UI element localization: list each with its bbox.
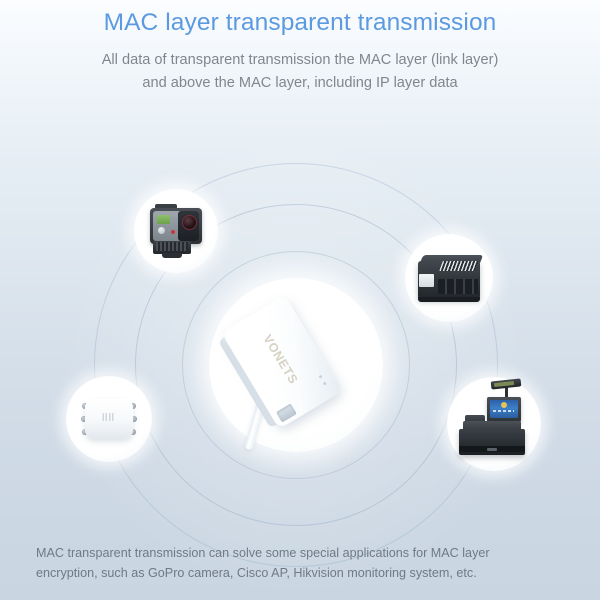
device-bubble-pos-terminal [447, 377, 541, 471]
header-block: MAC layer transparent transmission All d… [0, 0, 600, 96]
device-top-face: VONETS [221, 295, 342, 429]
caption-line-2: encryption, such as GoPro camera, Cisco … [36, 564, 564, 584]
vonets-device-body: VONETS [221, 295, 342, 429]
gopro-camera-icon [134, 189, 218, 273]
gopro-lcd-screen [157, 215, 170, 224]
ethernet-port-icon [276, 403, 297, 422]
cisco-access-point-icon [66, 376, 152, 462]
page-title: MAC layer transparent transmission [0, 0, 600, 39]
gopro-lens-icon [182, 215, 197, 230]
device-bubble-cisco-access-point [66, 376, 152, 462]
cisco-logo-icon [103, 413, 116, 421]
ap-body [85, 399, 133, 439]
plc-label-plate [419, 274, 434, 287]
pos-terminal-icon [447, 377, 541, 471]
plc-base [418, 297, 480, 302]
device-bubble-plc-module [405, 234, 493, 322]
infographic-canvas: MAC layer transparent transmission All d… [0, 0, 600, 600]
gopro-mount-teeth [156, 242, 188, 251]
subtitle-line-2: and above the MAC layer, including IP la… [0, 72, 600, 96]
status-led-icon-2 [323, 382, 327, 386]
plc-terminal-strip [439, 261, 479, 271]
subtitle-block: All data of transparent transmission the… [0, 39, 600, 96]
pos-cash-drawer-handle [487, 448, 497, 451]
pos-screen-logo-icon [501, 402, 507, 408]
status-led-icon-1 [319, 375, 323, 379]
gopro-record-indicator-icon [171, 230, 175, 234]
plc-module-slots [438, 279, 478, 294]
gopro-shutter-button-icon [158, 227, 165, 234]
caption-line-1: MAC transparent transmission can solve s… [36, 544, 564, 564]
pos-screen-text-lines [493, 410, 514, 412]
gopro-mount-foot [162, 253, 182, 258]
plc-controller-icon [405, 234, 493, 322]
footer-caption-block: MAC transparent transmission can solve s… [0, 544, 600, 584]
subtitle-line-1: All data of transparent transmission the… [0, 49, 600, 73]
vonets-brand-label: VONETS [260, 332, 300, 386]
device-bubble-gopro-camera [134, 189, 218, 273]
center-device-vonets-bridge: VONETS [209, 278, 383, 452]
